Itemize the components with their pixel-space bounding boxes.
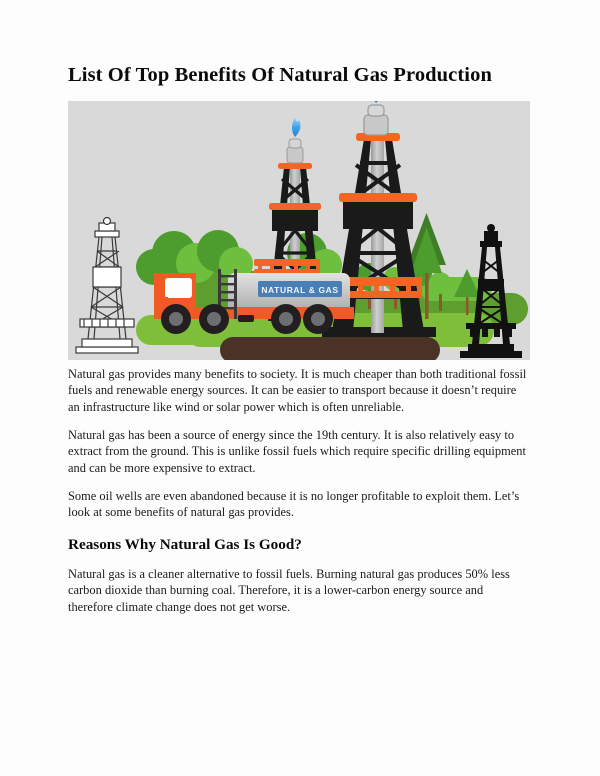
truck-label: NATURAL & GAS (261, 285, 338, 295)
hero-illustration: NATURAL & GAS (68, 101, 530, 360)
document-body: List Of Top Benefits Of Natural Gas Prod… (68, 62, 530, 627)
paragraph-2: Natural gas has been a source of energy … (68, 427, 530, 477)
natural-gas-illustration-svg: NATURAL & GAS (68, 101, 530, 360)
section-paragraph: Natural gas is a cleaner alternative to … (68, 566, 530, 616)
document-page: List Of Top Benefits Of Natural Gas Prod… (0, 0, 600, 776)
paragraph-3: Some oil wells are even abandoned becaus… (68, 488, 530, 521)
soil-layer (220, 337, 440, 360)
paragraph-1: Natural gas provides many benefits to so… (68, 366, 530, 416)
page-title: List Of Top Benefits Of Natural Gas Prod… (68, 62, 530, 89)
section-heading: Reasons Why Natural Gas Is Good? (68, 535, 530, 555)
